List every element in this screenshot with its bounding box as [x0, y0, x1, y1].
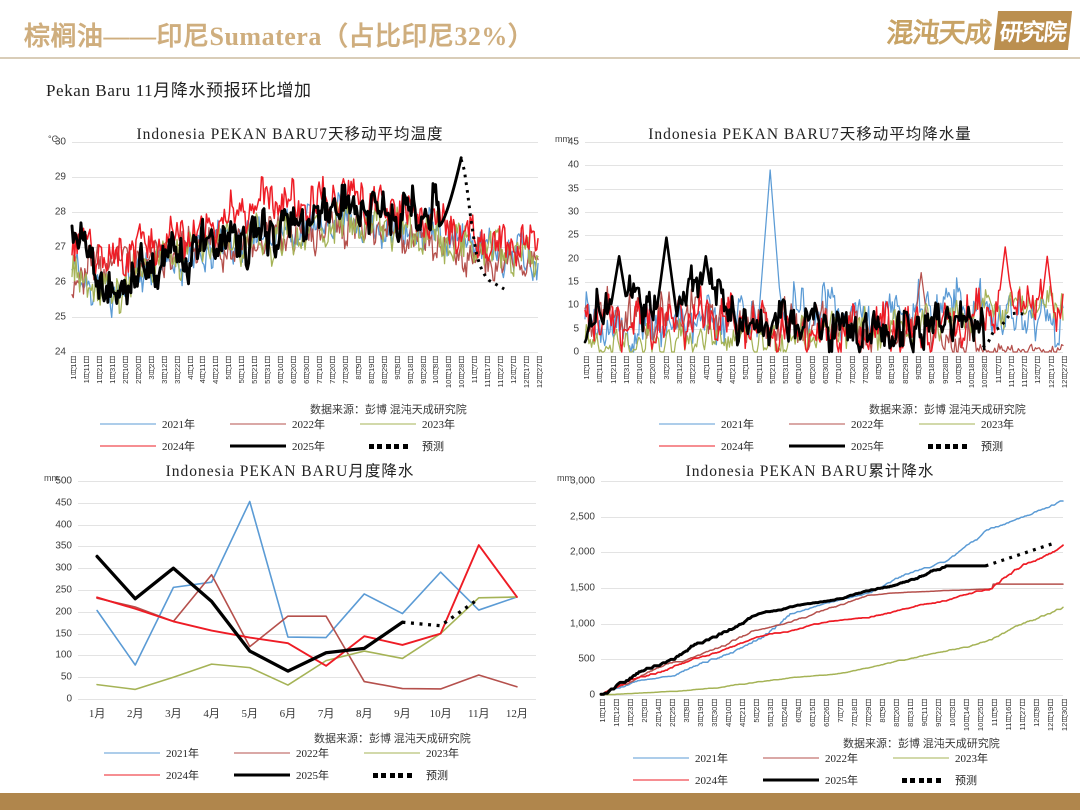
gridline: [78, 699, 536, 700]
legend-swatch: [230, 420, 286, 428]
legend-item[interactable]: 2021年: [104, 745, 234, 761]
legend-item[interactable]: 2022年: [234, 745, 364, 761]
x-axis-tick: 7月20日: [847, 356, 858, 384]
legend-label: 2023年: [422, 416, 455, 432]
legend-swatch: [364, 749, 420, 757]
series-line-预测: [402, 599, 478, 626]
x-axis-tick: 10月3日: [947, 699, 958, 727]
series-canvas: [72, 142, 538, 352]
x-axis-tick: 8月19日: [886, 356, 897, 384]
legend-label: 预测: [981, 438, 1003, 454]
legend-dot: [381, 773, 386, 778]
y-axis-tick: 500: [55, 476, 72, 487]
x-axis-tick: 11月27日: [1019, 356, 1030, 388]
y-axis-tick: 0: [589, 690, 595, 701]
y-axis-tick: 100: [55, 650, 72, 661]
x-axis-tick: 7月10日: [833, 356, 844, 384]
legend-item[interactable]: 2022年: [789, 416, 919, 432]
legend-dot: [373, 773, 378, 778]
y-axis-tick: 3,000: [570, 476, 595, 487]
legend-label: 2025年: [296, 767, 329, 783]
x-axis-tick: 4月1日: [701, 356, 712, 380]
x-axis-tick: 2月14日: [653, 699, 664, 727]
legend-line: [893, 758, 949, 759]
x-axis-tick: 5月1日: [223, 356, 234, 380]
legend-dot: [945, 444, 950, 449]
legend-line: [100, 446, 156, 447]
y-axis-tick: 1,500: [570, 583, 595, 594]
legend-label: 2022年: [296, 745, 329, 761]
x-axis-tick: 11月16日: [1003, 699, 1014, 731]
series-line-2021年: [97, 501, 517, 665]
series-line-2023年: [97, 597, 517, 689]
x-axis-tick: 11月17日: [1006, 356, 1017, 388]
x-axis-tick: 2月25日: [667, 699, 678, 727]
x-axis-tick: 2月20日: [647, 356, 658, 384]
x-axis-tick: 9月22日: [933, 699, 944, 727]
plot-area: [72, 142, 538, 352]
x-axis-tick: 1月: [89, 705, 106, 721]
x-axis-tick: 7月29日: [863, 699, 874, 727]
x-axis-tick: 9月18日: [926, 356, 937, 384]
legend-item[interactable]: 预测: [364, 767, 494, 783]
x-axis-tick: 11月5日: [989, 699, 1000, 726]
legend-swatch: [659, 442, 715, 450]
x-axis-tick: 8月9日: [353, 356, 364, 380]
x-axis-tick: 10月8日: [430, 356, 441, 384]
legend-swatch: [360, 420, 416, 428]
x-axis-tick: 12月27日: [534, 356, 545, 388]
x-axis-tick: 9月8日: [392, 356, 403, 380]
legend-swatch: [234, 749, 290, 757]
legend-line: [789, 424, 845, 425]
legend-dot: [377, 444, 382, 449]
chart-legend: 2021年2022年2023年2024年2025年预测: [104, 745, 494, 783]
x-axis-tick: 8月31日: [905, 699, 916, 727]
y-axis-tick: 450: [55, 497, 72, 508]
legend-label: 2021年: [721, 416, 754, 432]
x-axis-tick: 2月: [127, 705, 144, 721]
x-axis-tick: 6月30日: [820, 356, 831, 384]
x-axis-tick: 12月30日: [1059, 699, 1070, 731]
x-axis-tick: 3月22日: [172, 356, 183, 384]
x-axis-tick: 1月31日: [107, 356, 118, 384]
legend-line: [360, 424, 416, 425]
legend-dot: [936, 778, 941, 783]
x-axis-tick: 1月1日: [581, 356, 592, 380]
legend-label: 2025年: [851, 438, 884, 454]
x-axis-tick: 12月: [506, 705, 528, 721]
x-axis-tick: 10月18日: [966, 356, 977, 388]
legend-swatch: [789, 442, 845, 450]
legend-dot: [928, 444, 933, 449]
x-axis-tick: 5月11日: [236, 356, 247, 383]
y-axis-tick: 20: [568, 253, 579, 264]
header-divider: [0, 57, 1080, 59]
legend-label: 2021年: [695, 750, 728, 766]
x-axis-tick: 10月: [430, 705, 452, 721]
x-axis-tick: 4月11日: [714, 356, 725, 383]
y-axis-tick: 40: [568, 160, 579, 171]
x-axis-tick: 8月9日: [877, 699, 888, 723]
gridline: [601, 695, 1063, 696]
y-axis-tick: 30: [568, 207, 579, 218]
y-axis-tick: 0: [573, 347, 579, 358]
x-axis-tick: 10月18日: [443, 356, 454, 388]
y-axis-tick: 0: [66, 694, 72, 705]
x-axis-tick: 9月8日: [913, 356, 924, 380]
y-axis-tick: 400: [55, 519, 72, 530]
y-axis-tick: 150: [55, 628, 72, 639]
x-axis-tick: 11月17日: [482, 356, 493, 388]
x-axis-tick: 9月18日: [405, 356, 416, 384]
x-axis-tick: 7月18日: [849, 699, 860, 727]
legend-swatch: [104, 749, 160, 757]
x-axis-tick: 5月24日: [779, 699, 790, 727]
legend-line: [234, 753, 290, 754]
legend-swatch: [893, 754, 949, 762]
y-axis-tick: 25: [568, 230, 579, 241]
x-axis-tick: 1月1日: [597, 699, 608, 723]
legend-item[interactable]: 2024年: [104, 767, 234, 783]
chart-legend: 2021年2022年2023年2024年2025年预测: [659, 416, 1049, 454]
x-axis-tick: 1月11日: [594, 356, 605, 383]
x-axis-tick: 11月: [468, 705, 490, 721]
y-axis-tick: 27: [55, 242, 66, 253]
x-axis-tick: 8月20日: [891, 699, 902, 727]
legend-line: [633, 780, 689, 781]
x-axis-tick: 1月31日: [621, 356, 632, 384]
legend-swatch: [659, 420, 715, 428]
x-axis-tick: 3月12日: [159, 356, 170, 384]
legend-label: 2022年: [825, 750, 858, 766]
y-axis-tick: 1,000: [570, 618, 595, 629]
y-axis-tick: 350: [55, 541, 72, 552]
series-canvas: [585, 142, 1063, 352]
x-axis-tick: 6月10日: [275, 356, 286, 384]
plot-area: [585, 142, 1063, 352]
y-axis-tick: 300: [55, 563, 72, 574]
legend-label: 预测: [955, 772, 977, 788]
chart-title: Indonesia PEKAN BARU7天移动平均温度: [30, 122, 550, 144]
legend-item[interactable]: 2022年: [763, 750, 893, 766]
x-axis-tick: 6月30日: [301, 356, 312, 384]
x-axis-tick: 10月8日: [953, 356, 964, 384]
chart-legend: 2021年2022年2023年2024年2025年预测: [100, 416, 490, 454]
x-axis-tick: 5月31日: [780, 356, 791, 384]
x-axis-tick: 5月31日: [262, 356, 273, 384]
x-axis-tick: 12月17日: [521, 356, 532, 388]
legend-label: 2021年: [166, 745, 199, 761]
x-axis-tick: 3月2日: [146, 356, 157, 380]
x-axis-tick: 2月20日: [133, 356, 144, 384]
x-axis-tick: 1月21日: [94, 356, 105, 384]
legend-swatch: [893, 776, 949, 784]
x-axis-tick: 4月10日: [723, 699, 734, 727]
chart-panel-cumulative: Indonesia PEKAN BARU累计降水mm05001,0001,500…: [545, 455, 1075, 793]
legend-item[interactable]: 预测: [360, 438, 490, 454]
x-axis-tick: 6月4日: [793, 699, 804, 723]
x-axis-tick: 5月13日: [765, 699, 776, 727]
legend-swatch: [364, 771, 420, 779]
x-axis-tick: 3月30日: [709, 699, 720, 727]
legend-line: [763, 779, 819, 782]
legend-label: 2024年: [695, 772, 728, 788]
legend-label: 2025年: [292, 438, 325, 454]
brand-logo-text: 混沌天成: [885, 11, 993, 50]
legend-dot: [902, 778, 907, 783]
plot-area: [78, 481, 536, 699]
legend-line: [659, 424, 715, 425]
x-axis-tick: 7月30日: [860, 356, 871, 384]
legend-item[interactable]: 预测: [919, 438, 1049, 454]
x-axis-tick: 3月19日: [695, 699, 706, 727]
x-axis-tick: 3月2日: [661, 356, 672, 380]
legend-swatch: [360, 442, 416, 450]
legend-item[interactable]: 2023年: [364, 745, 494, 761]
legend-item[interactable]: 2025年: [763, 772, 893, 788]
series-canvas: [601, 481, 1063, 695]
legend-dot: [386, 444, 391, 449]
x-axis-tick: 5月2日: [751, 699, 762, 723]
legend-label: 预测: [426, 767, 448, 783]
x-axis-tick: 8月: [356, 705, 373, 721]
x-axis-tick: 11月7日: [993, 356, 1004, 383]
series-line-2022年: [97, 575, 517, 689]
y-axis-tick: 25: [55, 312, 66, 323]
legend-dot: [369, 444, 374, 449]
legend-item[interactable]: 2021年: [100, 416, 230, 432]
legend-swatch: [633, 776, 689, 784]
y-axis-tick: 50: [61, 672, 72, 683]
y-axis-tick: 2,500: [570, 511, 595, 522]
x-axis-tick: 5月21日: [249, 356, 260, 384]
legend-dot: [390, 773, 395, 778]
legend-dot: [398, 773, 403, 778]
legend-item[interactable]: 2024年: [633, 772, 763, 788]
x-axis-tick: 5月1日: [740, 356, 751, 380]
x-axis-tick: 2月10日: [634, 356, 645, 384]
legend-line: [104, 753, 160, 754]
legend-dot: [919, 778, 924, 783]
series-line: [601, 545, 1063, 694]
y-axis-tick: 250: [55, 585, 72, 596]
legend-line: [763, 758, 819, 759]
x-axis-tick: 4月11日: [197, 356, 208, 383]
legend-item[interactable]: 2021年: [633, 750, 763, 766]
legend-swatch: [633, 754, 689, 762]
legend-item[interactable]: 2024年: [659, 438, 789, 454]
legend-dot: [953, 444, 958, 449]
x-axis-tick: 5月: [242, 705, 259, 721]
x-axis-tick: 3月22日: [687, 356, 698, 384]
x-axis-tick: 10月28日: [979, 356, 990, 388]
series-canvas: [78, 481, 536, 699]
x-axis-tick: 5月21日: [767, 356, 778, 384]
x-axis-tick: 9月28日: [418, 356, 429, 384]
x-axis-tick: 1月11日: [81, 356, 92, 383]
legend-swatch: [763, 754, 819, 762]
legend-label: 2022年: [292, 416, 325, 432]
y-axis-tick: 5: [573, 323, 579, 334]
legend-label: 2024年: [721, 438, 754, 454]
x-axis-tick: 10月28日: [456, 356, 467, 388]
legend-label: 2023年: [955, 750, 988, 766]
legend-label: 预测: [422, 438, 444, 454]
y-axis-tick: 2,000: [570, 547, 595, 558]
legend-swatch: [234, 771, 290, 779]
page-title: 棕榈油——印尼Sumatera（占比印尼32%）: [24, 16, 534, 53]
x-axis-tick: 12月19日: [1045, 699, 1056, 731]
x-axis-tick: 11月27日: [495, 356, 506, 388]
legend-dot: [910, 778, 915, 783]
legend-dot: [936, 444, 941, 449]
chart-panel-monthly: Indonesia PEKAN BARU月度降水mm05010015020025…: [30, 455, 550, 793]
legend-dot: [927, 778, 932, 783]
legend-line: [100, 424, 156, 425]
x-axis-tick: 8月9日: [873, 356, 884, 380]
chart-panel-temperature: Indonesia PEKAN BARU7天移动平均温度°C2425262728…: [30, 118, 550, 458]
chart-panel-rain7day: Indonesia PEKAN BARU7天移动平均降水量mm051015202…: [545, 118, 1075, 458]
legend-line: [789, 445, 845, 448]
legend-line: [633, 758, 689, 759]
legend-item[interactable]: 2023年: [893, 750, 1023, 766]
x-axis-tick: 8月29日: [900, 356, 911, 384]
legend-item[interactable]: 2021年: [659, 416, 789, 432]
x-axis-tick: 9月: [394, 705, 411, 721]
legend-line: [659, 446, 715, 447]
legend-item[interactable]: 2025年: [789, 438, 919, 454]
legend-dot: [962, 444, 967, 449]
legend-dot: [407, 773, 412, 778]
x-axis-tick: 3月8日: [681, 699, 692, 723]
x-axis-tick: 6月26日: [821, 699, 832, 727]
x-axis-tick: 1月1日: [68, 356, 79, 380]
legend-label: 2024年: [162, 438, 195, 454]
legend-line: [104, 775, 160, 776]
legend-label: 2024年: [166, 767, 199, 783]
brand-logo: 混沌天成 研究院: [887, 8, 1070, 52]
legend-item[interactable]: 2025年: [234, 767, 364, 783]
legend-line: [364, 753, 420, 754]
x-axis-tick: 9月11日: [919, 699, 930, 726]
x-axis-tick: 4月21日: [737, 699, 748, 727]
x-axis-tick: 6月20日: [807, 356, 818, 384]
x-axis-tick: 12月27日: [1059, 356, 1070, 388]
x-axis-tick: 1月12日: [611, 699, 622, 727]
y-axis-tick: 35: [568, 183, 579, 194]
legend-item[interactable]: 2023年: [360, 416, 490, 432]
source-note: 数据来源：彭博 混沌天成研究院: [314, 730, 471, 746]
legend-label: 2023年: [426, 745, 459, 761]
legend-label: 2021年: [162, 416, 195, 432]
legend-line: [919, 424, 975, 425]
y-axis-tick: 29: [55, 172, 66, 183]
x-axis-tick: 10月14日: [961, 699, 972, 731]
brand-logo-badge: 研究院: [994, 11, 1072, 50]
legend-swatch: [919, 442, 975, 450]
x-axis-tick: 5月11日: [754, 356, 765, 383]
x-axis-tick: 4月21日: [727, 356, 738, 384]
series-line-2025年: [97, 556, 402, 671]
page-header: 棕榈油——印尼Sumatera（占比印尼32%） 混沌天成 研究院: [0, 0, 1080, 58]
legend-item[interactable]: 2025年: [230, 438, 360, 454]
slide-subtitle: Pekan Baru 11月降水预报环比增加: [46, 76, 312, 101]
legend-label: 2022年: [851, 416, 884, 432]
y-axis-tick: 30: [55, 137, 66, 148]
legend-line: [234, 774, 290, 777]
x-axis-tick: 6月: [280, 705, 297, 721]
legend-swatch: [919, 420, 975, 428]
x-axis-tick: 12月7日: [508, 356, 519, 384]
legend-line: [230, 424, 286, 425]
x-axis-tick: 4月: [203, 705, 220, 721]
legend-swatch: [100, 420, 156, 428]
y-axis-tick: 28: [55, 207, 66, 218]
y-axis-tick: 200: [55, 606, 72, 617]
legend-item[interactable]: 2022年: [230, 416, 360, 432]
x-axis-tick: 8月19日: [366, 356, 377, 384]
x-axis-tick: 11月7日: [469, 356, 480, 383]
source-note: 数据来源：彭博 混沌天成研究院: [310, 401, 467, 417]
y-axis-tick: 45: [568, 137, 579, 148]
series-line: [585, 247, 1063, 352]
x-axis-tick: 7月20日: [327, 356, 338, 384]
legend-label: 2025年: [825, 772, 858, 788]
chart-title: Indonesia PEKAN BARU月度降水: [30, 459, 550, 481]
y-axis-tick: 500: [578, 654, 595, 665]
chart-title: Indonesia PEKAN BARU7天移动平均降水量: [545, 122, 1075, 144]
legend-swatch: [763, 776, 819, 784]
x-axis-tick: 1月21日: [608, 356, 619, 384]
legend-item[interactable]: 预测: [893, 772, 1023, 788]
footer-bar: [0, 793, 1080, 810]
x-axis-tick: 7月: [318, 705, 335, 721]
y-axis-tick: 15: [568, 277, 579, 288]
x-axis-tick: 6月15日: [807, 699, 818, 727]
gridline: [72, 352, 538, 353]
legend-item[interactable]: 2024年: [100, 438, 230, 454]
legend-swatch: [789, 420, 845, 428]
y-axis-tick: 24: [55, 347, 66, 358]
y-axis-tick: 26: [55, 277, 66, 288]
x-axis-tick: 6月10日: [793, 356, 804, 384]
x-axis-tick: 3月: [165, 705, 182, 721]
x-axis-tick: 9月28日: [940, 356, 951, 384]
x-axis-tick: 7月7日: [835, 699, 846, 723]
source-note: 数据来源：彭博 混沌天成研究院: [843, 735, 1000, 751]
x-axis-tick: 12月7日: [1032, 356, 1043, 384]
chart-legend: 2021年2022年2023年2024年2025年预测: [633, 750, 1023, 788]
x-axis-tick: 12月8日: [1031, 699, 1042, 727]
x-axis-tick: 2月10日: [120, 356, 131, 384]
x-axis-tick: 7月10日: [314, 356, 325, 384]
x-axis-tick: 12月17日: [1046, 356, 1057, 388]
source-note: 数据来源：彭博 混沌天成研究院: [869, 401, 1026, 417]
legend-dot: [403, 444, 408, 449]
x-axis-tick: 6月20日: [288, 356, 299, 384]
x-axis-tick: 7月30日: [340, 356, 351, 384]
y-axis-tick: 10: [568, 300, 579, 311]
legend-label: 2023年: [981, 416, 1014, 432]
legend-item[interactable]: 2023年: [919, 416, 1049, 432]
series-line-2024年: [97, 545, 517, 666]
x-axis-tick: 1月23日: [625, 699, 636, 727]
legend-line: [230, 445, 286, 448]
chart-title: Indonesia PEKAN BARU累计降水: [545, 459, 1075, 481]
legend-dot: [394, 444, 399, 449]
legend-swatch: [100, 442, 156, 450]
